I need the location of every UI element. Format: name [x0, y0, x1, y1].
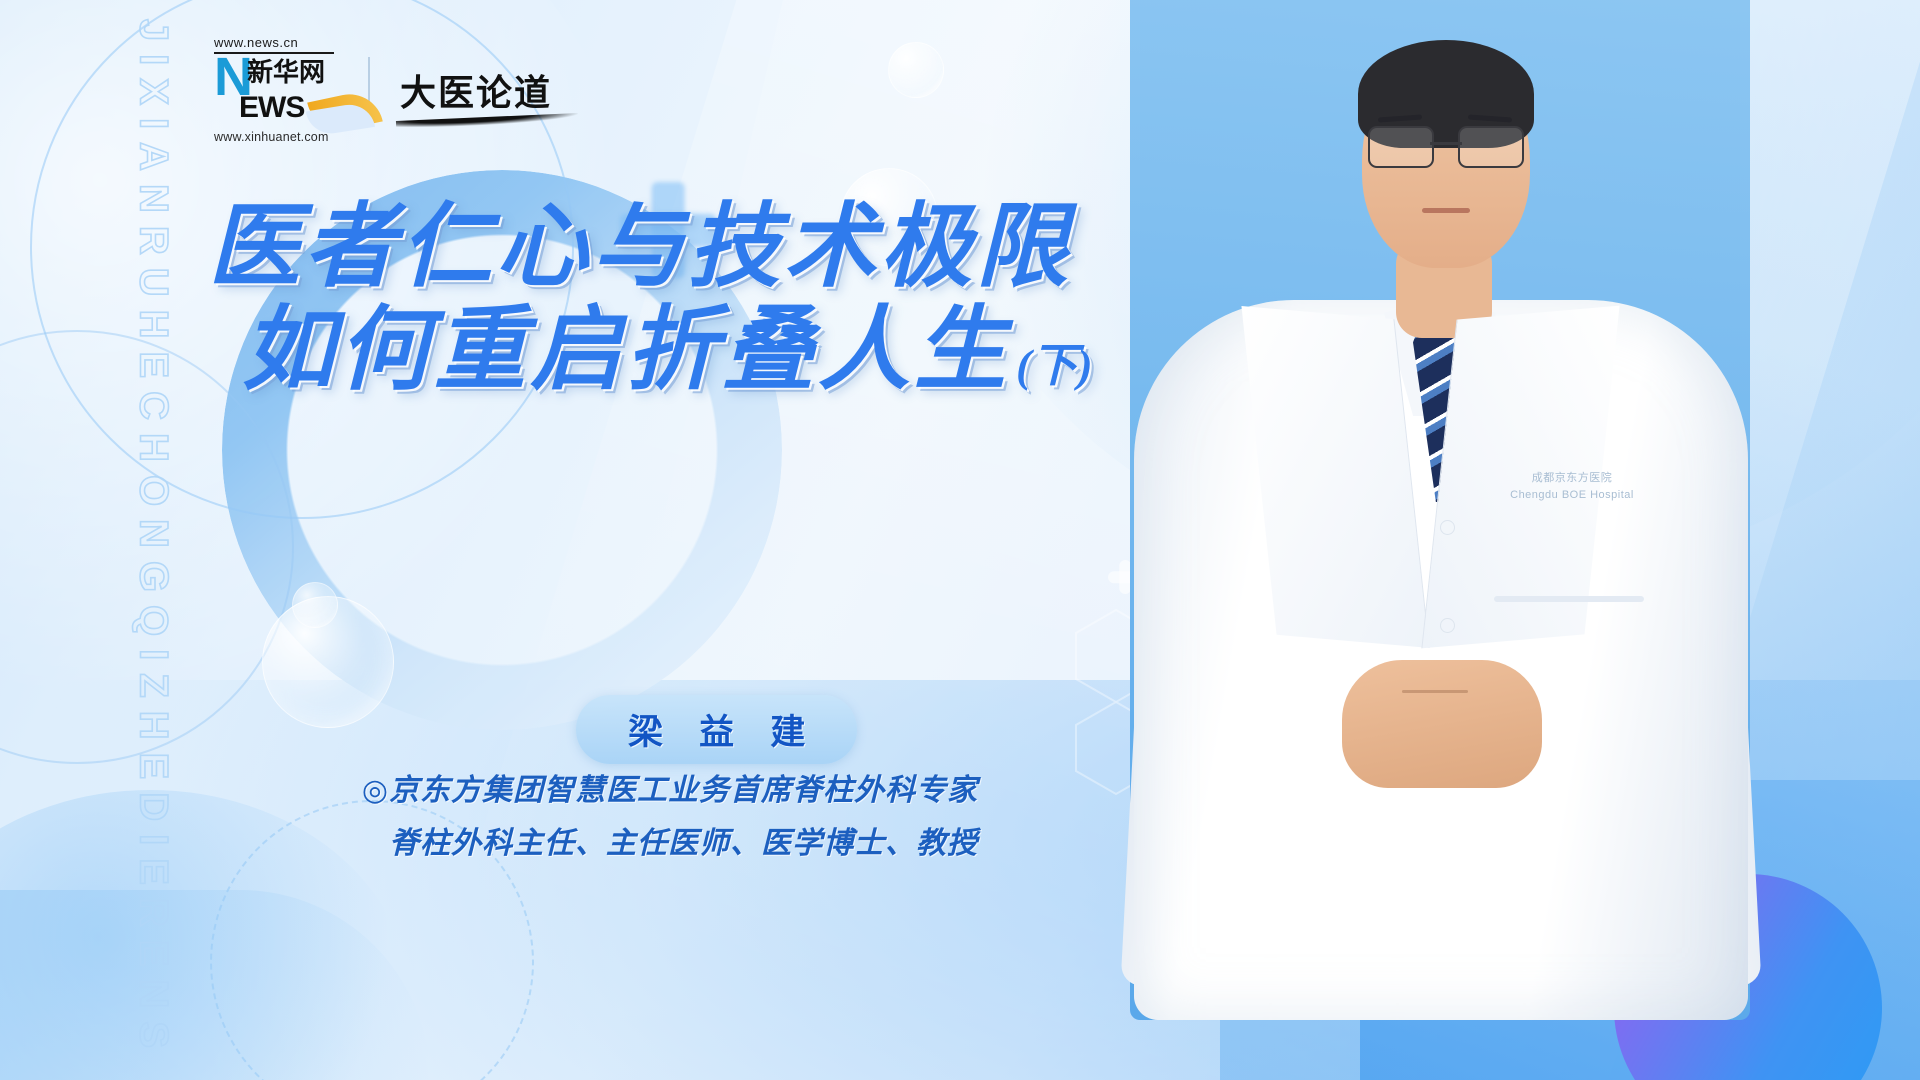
vertical-pinyin-decoration: JIXIANRUHECHONGQIZHEDIERENS — [121, 0, 185, 1080]
guest-name: 梁 益 建 — [616, 704, 817, 755]
title-line-1: 医者仁心与技术极限 — [208, 196, 1068, 299]
glasses-lens-left — [1368, 126, 1434, 168]
coat-pocket — [1494, 596, 1644, 602]
title-block: 医者仁心与技术极限 如何重启折叠人生(下) — [208, 196, 1068, 402]
coat-button — [1440, 618, 1455, 633]
guest-name-badge: 梁 益 建 — [576, 695, 857, 764]
poster-banner: JIXIANRUHECHONGQIZHEDIERENS www.news.cn … — [0, 0, 1920, 1080]
header: www.news.cn N 新华网 EWS www.xinhuanet.com … — [214, 36, 552, 144]
title-line-2-wrap: 如何重启折叠人生(下) — [208, 299, 1068, 402]
portrait-glasses-icon — [1368, 126, 1524, 166]
glasses-bridge — [1430, 142, 1462, 145]
bubble-icon — [888, 42, 944, 98]
vertical-pinyin-text: JIXIANRUHECHONGQIZHEDIERENS — [131, 19, 176, 1061]
guest-subtitle-2: 脊柱外科主任、主任医师、医学博士、教授 — [338, 818, 978, 862]
coat-hospital-text: 成都京东方医院 Chengdu BOE Hospital — [1502, 470, 1642, 503]
guest-subtitle-1: ◎京东方集团智慧医工业务首席脊柱外科专家 — [338, 765, 978, 809]
title-suffix: (下) — [1016, 340, 1093, 391]
coat-button — [1440, 520, 1455, 535]
portrait-hand-line — [1402, 690, 1468, 693]
logo-mark: N 新华网 EWS — [214, 55, 325, 99]
portrait-mouth — [1422, 208, 1470, 213]
title-line-2: 如何重启折叠人生 — [242, 299, 1010, 401]
portrait-hands — [1342, 660, 1542, 788]
logo-bottom-url: www.xinhuanet.com — [214, 130, 329, 144]
logo-swoosh-icon — [307, 88, 383, 136]
coat-hospital-cn: 成都京东方医院 — [1502, 470, 1642, 487]
logo-word-ews: EWS — [239, 91, 304, 125]
xinhua-news-logo[interactable]: www.news.cn N 新华网 EWS www.xinhuanet.com — [214, 36, 342, 144]
bubble-icon — [292, 582, 338, 628]
logo-chinese-name: 新华网 — [247, 59, 325, 85]
program-title: 大医论道 — [400, 64, 552, 116]
coat-hospital-en: Chengdu BOE Hospital — [1502, 487, 1642, 504]
doctor-portrait: 成都京东方医院 Chengdu BOE Hospital — [1110, 0, 1810, 1020]
glasses-lens-right — [1458, 126, 1524, 168]
